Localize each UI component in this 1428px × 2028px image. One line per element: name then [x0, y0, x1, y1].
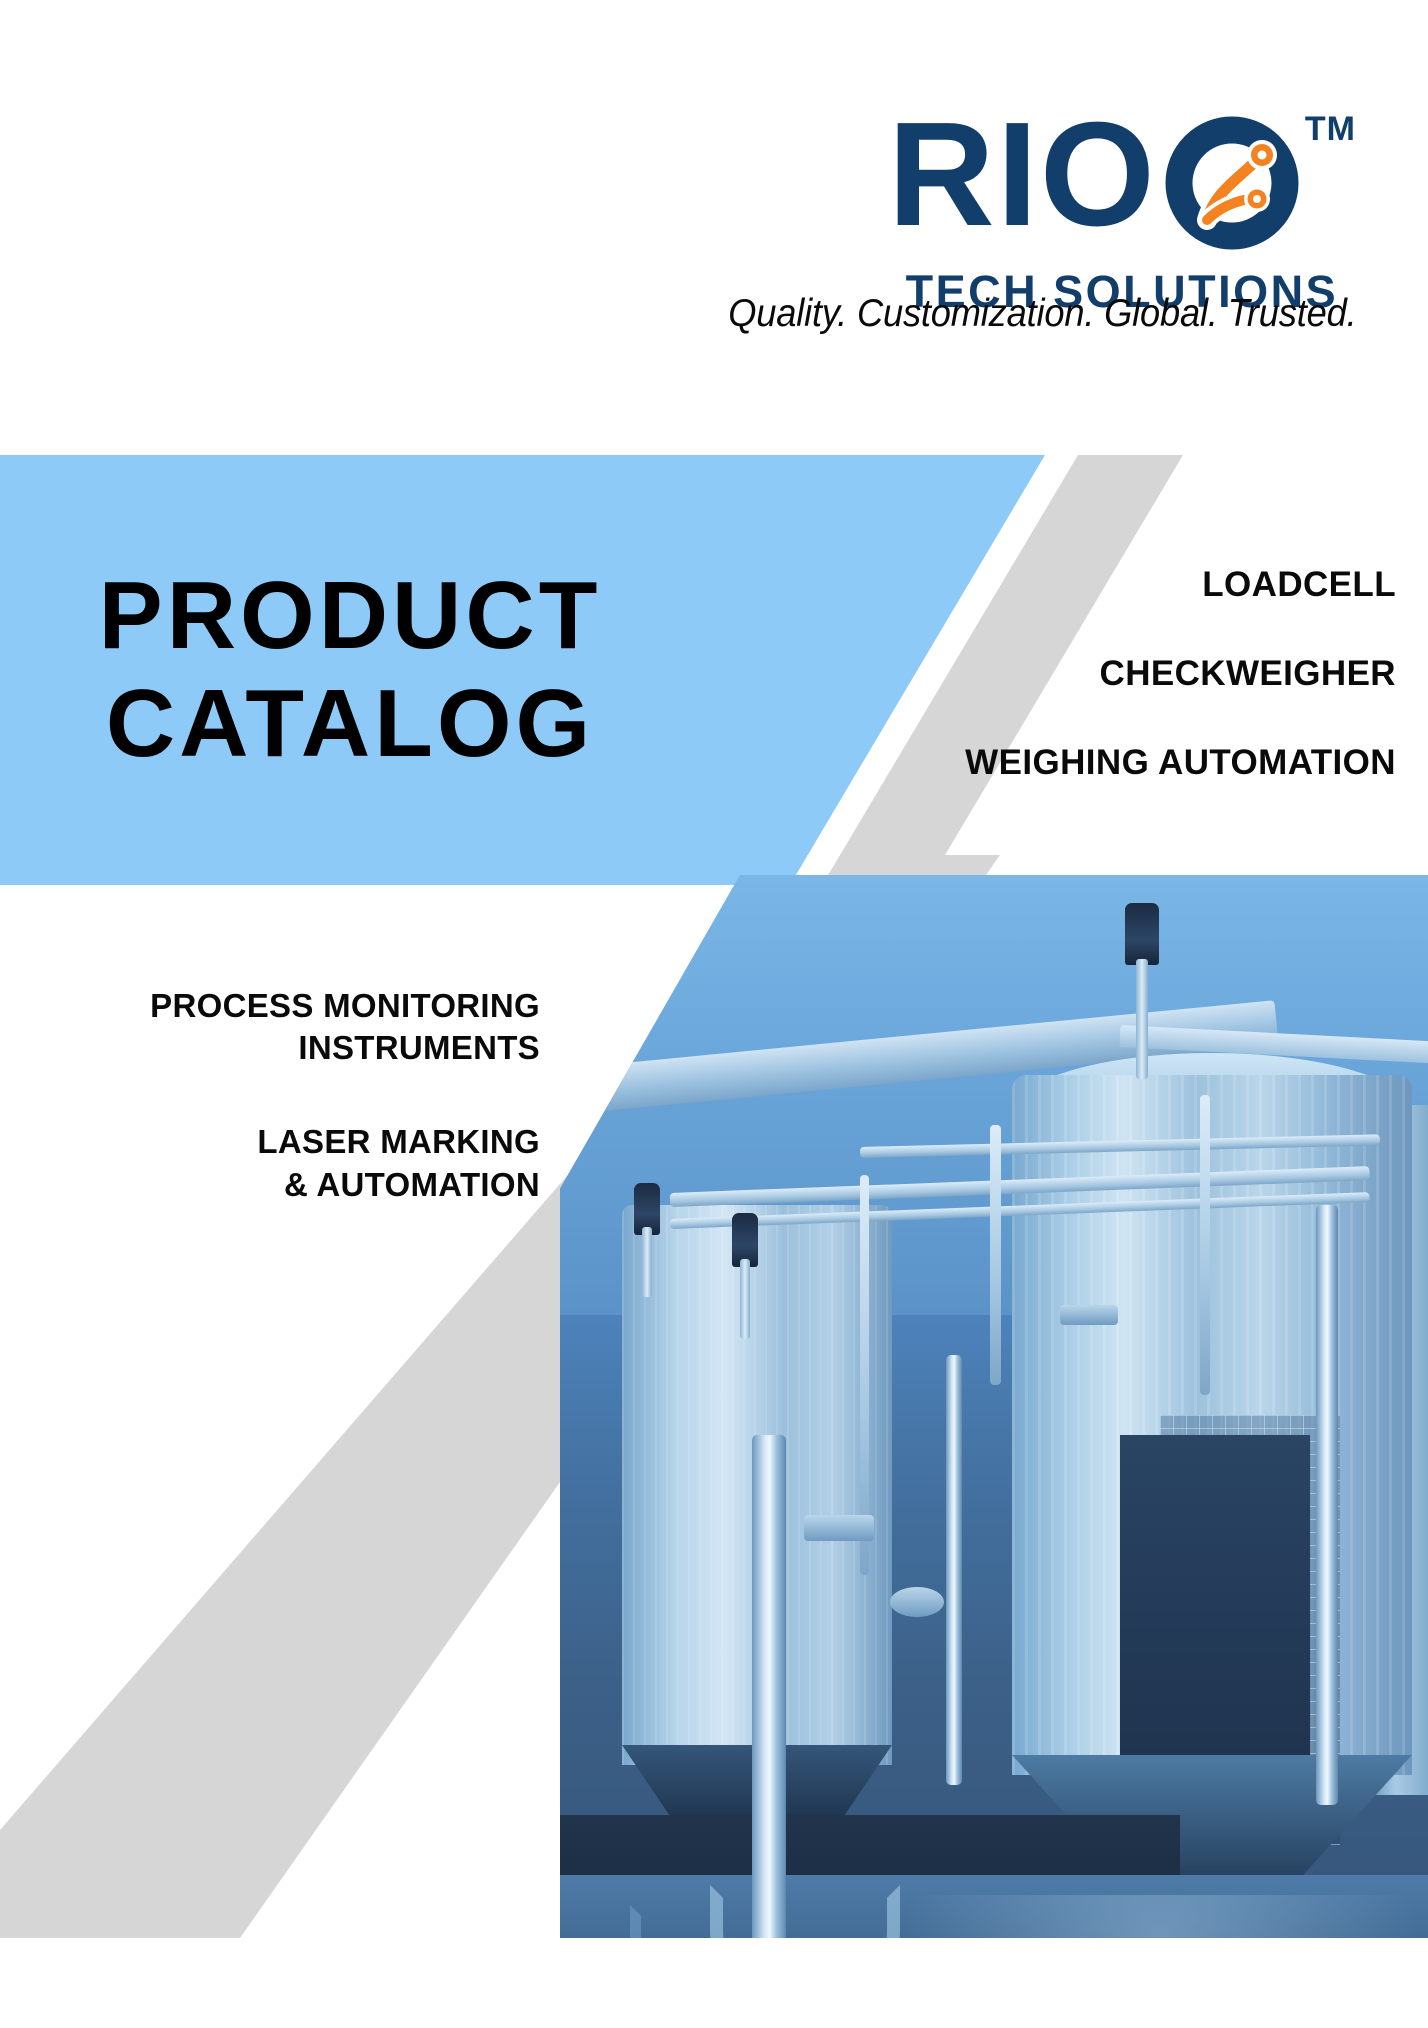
category-loadcell: LOADCELL [756, 565, 1396, 605]
category-checkweigher: CHECKWEIGHER [756, 654, 1396, 694]
left-category-list: PROCESS MONITORING INSTRUMENTS LASER MAR… [40, 985, 540, 1206]
page-title: PRODUCT CATALOG [0, 455, 700, 885]
catalog-cover-page: RIO TM [0, 0, 1428, 2028]
category-process-monitoring-instruments: PROCESS MONITORING INSTRUMENTS [40, 985, 540, 1069]
category-line-1a: PROCESS MONITORING [40, 985, 540, 1027]
right-category-list: LOADCELL CHECKWEIGHER WEIGHING AUTOMATIO… [756, 565, 1396, 783]
category-weighing-automation: WEIGHING AUTOMATION [756, 743, 1396, 783]
title-line-catalog: CATALOG [106, 670, 594, 778]
category-line-2b: & AUTOMATION [40, 1164, 540, 1206]
category-line-2a: LASER MARKING [40, 1121, 540, 1163]
category-line-1b: INSTRUMENTS [40, 1027, 540, 1069]
title-line-product: PRODUCT [99, 562, 602, 670]
category-laser-marking-automation: LASER MARKING & AUTOMATION [40, 1121, 540, 1205]
industrial-tanks-photo [560, 875, 1428, 1938]
